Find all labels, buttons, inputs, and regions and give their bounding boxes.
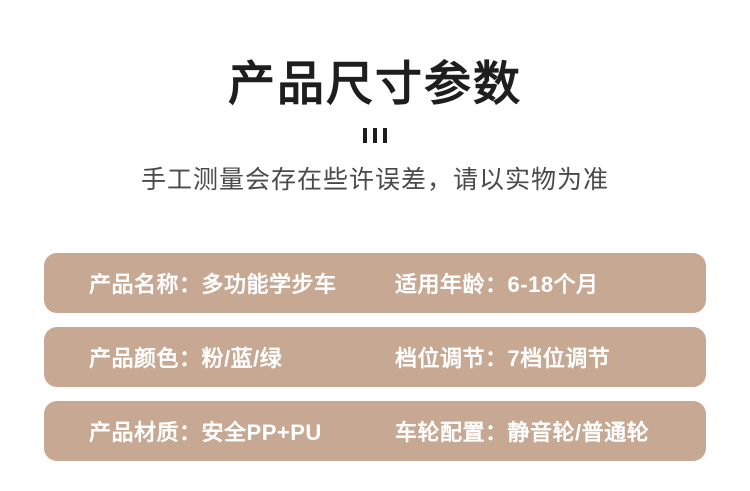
spec-list: 产品名称： 多功能学步车 适用年龄： 6-18个月 产品颜色： 粉/蓝/绿 档位… (44, 253, 706, 461)
spec-value: 7档位调节 (508, 341, 611, 373)
spec-key: 产品名称： (89, 267, 202, 299)
product-spec-page: 产品尺寸参数 手工测量会存在些许误差，请以实物为准 产品名称： 多功能学步车 适… (0, 0, 750, 491)
spec-value: 6-18个月 (508, 267, 599, 299)
spec-value: 静音轮/普通轮 (508, 415, 650, 447)
table-row: 产品材质： 安全PP+PU 车轮配置： 静音轮/普通轮 (44, 401, 706, 461)
divider-bar-1 (363, 128, 367, 143)
spec-cell-right: 适用年龄： 6-18个月 (395, 253, 599, 313)
divider-bar-3 (383, 128, 387, 143)
spec-key: 产品颜色： (89, 341, 202, 373)
page-title: 产品尺寸参数 (0, 55, 750, 113)
spec-cell-left: 产品材质： 安全PP+PU (89, 401, 322, 461)
divider-bar-2 (373, 128, 377, 143)
spec-key: 车轮配置： (395, 415, 508, 447)
spec-value: 多功能学步车 (202, 267, 337, 299)
spec-cell-right: 档位调节： 7档位调节 (395, 327, 610, 387)
spec-value: 粉/蓝/绿 (202, 341, 283, 373)
spec-value: 安全PP+PU (202, 415, 322, 447)
spec-cell-left: 产品名称： 多功能学步车 (89, 253, 337, 313)
spec-cell-left: 产品颜色： 粉/蓝/绿 (89, 327, 282, 387)
spec-key: 适用年龄： (395, 267, 508, 299)
spec-key: 档位调节： (395, 341, 508, 373)
table-row: 产品名称： 多功能学步车 适用年龄： 6-18个月 (44, 253, 706, 313)
three-bars-divider-icon (0, 127, 750, 143)
spec-key: 产品材质： (89, 415, 202, 447)
spec-cell-right: 车轮配置： 静音轮/普通轮 (395, 401, 649, 461)
page-subtitle: 手工测量会存在些许误差，请以实物为准 (0, 163, 750, 197)
table-row: 产品颜色： 粉/蓝/绿 档位调节： 7档位调节 (44, 327, 706, 387)
